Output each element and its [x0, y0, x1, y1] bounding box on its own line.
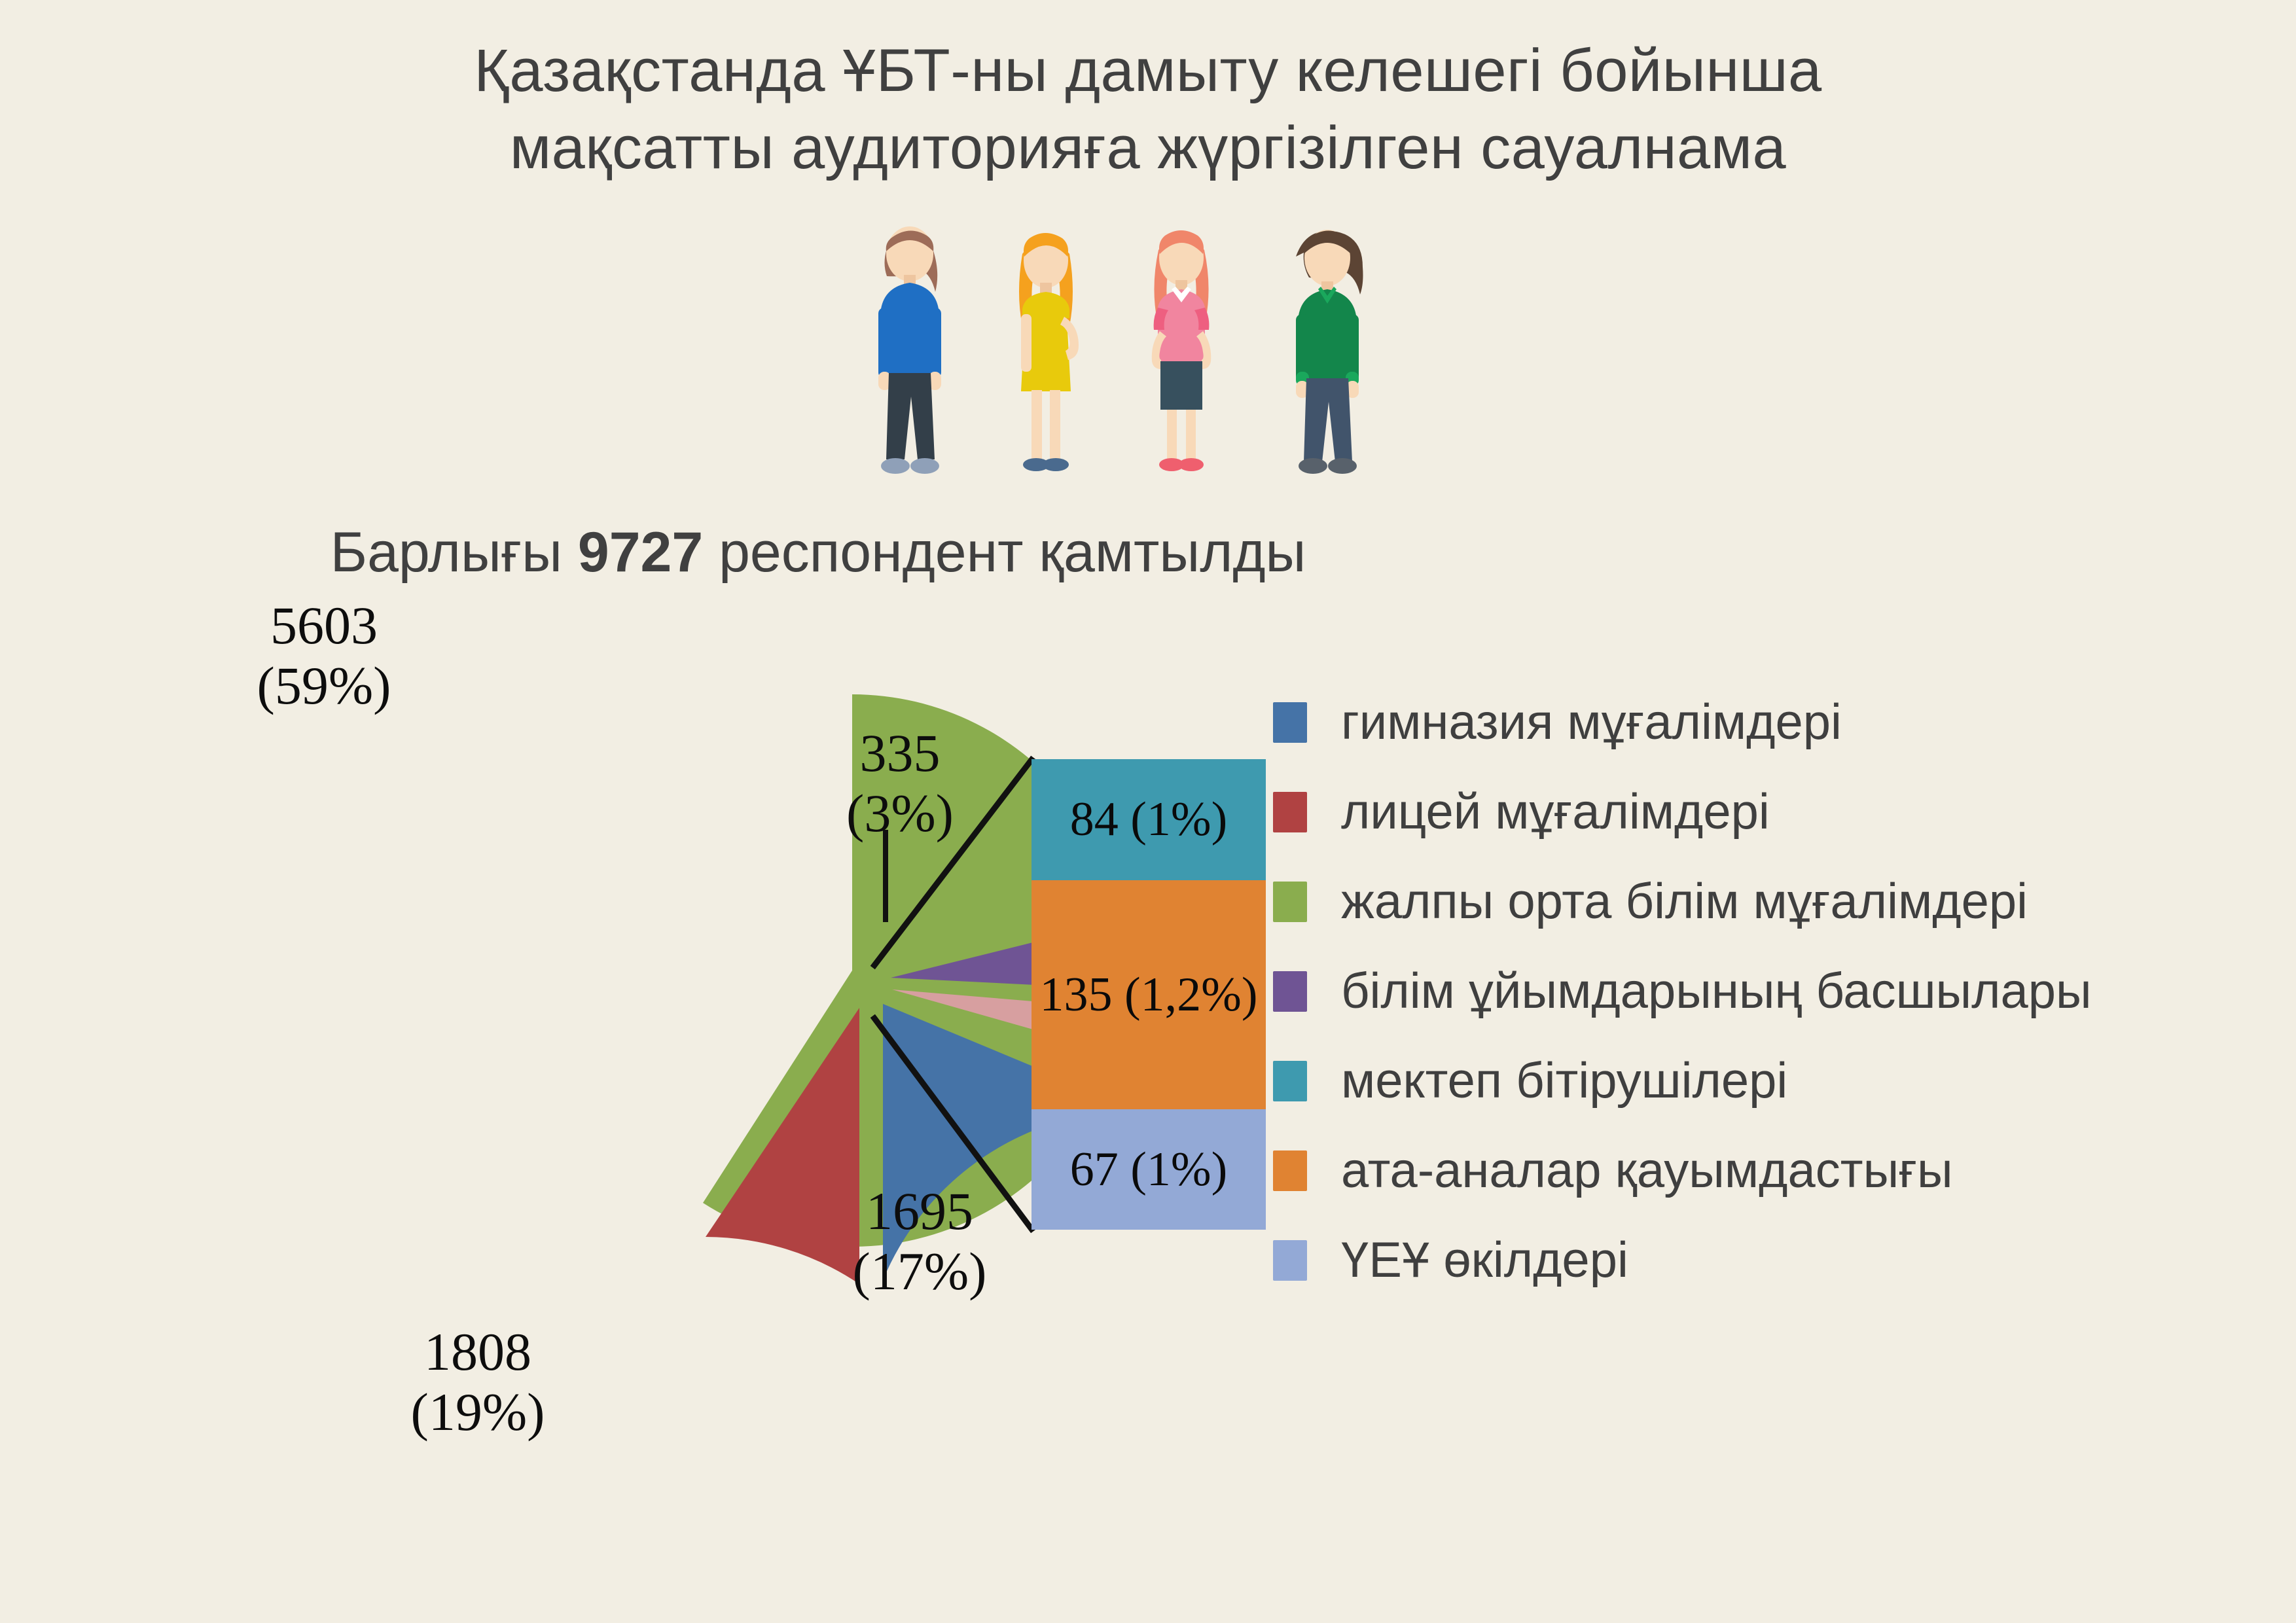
legend-swatch-ngo — [1273, 1240, 1307, 1281]
legend-label-graduates: мектеп бітірушілері — [1341, 1052, 1787, 1109]
pie-label-gymnasium-value: 1695 — [812, 1181, 1028, 1241]
legend-swatch-lyceum — [1273, 792, 1307, 832]
pie-label-heads: 335 (3%) — [815, 723, 985, 844]
legend: гимназия мұғалімдері лицей мұғалімдері ж… — [1273, 677, 2274, 1305]
pie-label-lyceum-value: 1808 — [370, 1322, 586, 1382]
legend-item-gymnasium: гимназия мұғалімдері — [1273, 677, 2274, 767]
breakout-stacked-bar: 84 (1%) 135 (1,2%) 67 (1%) — [1031, 759, 1266, 1230]
pie-label-heads-value: 335 — [815, 723, 985, 783]
legend-item-ngo: ҮЕҰ өкілдері — [1273, 1215, 2274, 1305]
legend-swatch-graduates — [1273, 1061, 1307, 1101]
legend-swatch-heads — [1273, 971, 1307, 1012]
pie-label-gymnasium: 1695 (17%) — [812, 1181, 1028, 1302]
pie-label-lyceum-percent: (19%) — [370, 1382, 586, 1442]
legend-swatch-parents — [1273, 1150, 1307, 1191]
legend-label-general-education: жалпы орта білім мұғалімдері — [1341, 873, 2028, 930]
legend-swatch-gymnasium — [1273, 702, 1307, 743]
legend-label-parents: ата-аналар қауымдастығы — [1341, 1142, 1953, 1199]
legend-item-parents: ата-аналар қауымдастығы — [1273, 1126, 2274, 1215]
pie-label-lyceum: 1808 (19%) — [370, 1322, 586, 1442]
legend-label-ngo: ҮЕҰ өкілдері — [1341, 1232, 1628, 1289]
infographic-canvas: Қазақстанда ҰБТ-ны дамыту келешегі бойын… — [0, 0, 2296, 1623]
bar-segment-ngo: 67 (1%) — [1031, 1109, 1266, 1230]
pie-label-heads-percent: (3%) — [815, 783, 985, 844]
pie-label-general-education-value: 5603 — [216, 596, 432, 656]
pie-label-general-education-percent: (59%) — [216, 656, 432, 716]
legend-label-lyceum: лицей мұғалімдері — [1341, 783, 1770, 840]
pie-label-general-education: 5603 (59%) — [216, 596, 432, 716]
bar-segment-graduates: 84 (1%) — [1031, 759, 1266, 880]
legend-item-heads: білім ұйымдарының басшылары — [1273, 946, 2274, 1036]
legend-item-general-education: жалпы орта білім мұғалімдері — [1273, 857, 2274, 946]
legend-label-gymnasium: гимназия мұғалімдері — [1341, 694, 1842, 751]
legend-item-graduates: мектеп бітірушілері — [1273, 1036, 2274, 1126]
legend-label-heads: білім ұйымдарының басшылары — [1341, 963, 2092, 1020]
legend-swatch-general-education — [1273, 882, 1307, 922]
legend-item-lyceum: лицей мұғалімдері — [1273, 767, 2274, 857]
pie-label-gymnasium-percent: (17%) — [812, 1241, 1028, 1302]
bar-segment-parents: 135 (1,2%) — [1031, 880, 1266, 1109]
